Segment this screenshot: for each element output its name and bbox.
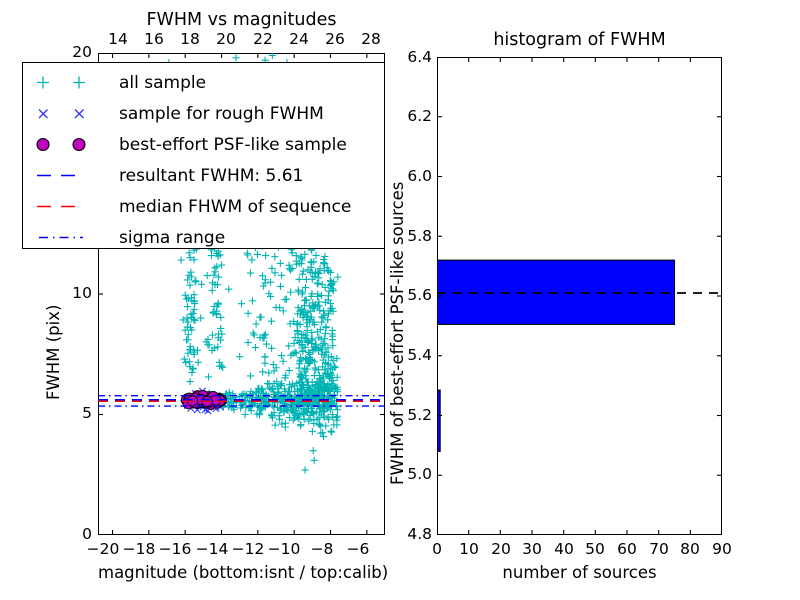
legend-label-sigma-range: sigma range (119, 228, 225, 248)
top-tick-18: 18 (176, 30, 204, 48)
legend: all sample sample for rough FWHM (22, 62, 385, 249)
hist-xtick-20: 20 (487, 540, 515, 558)
dashed-line-icon-red (23, 191, 119, 222)
bottom-tick-m6: −6 (339, 540, 377, 558)
hist-xtick-60: 60 (613, 540, 641, 558)
left-tick-5: 5 (66, 404, 92, 422)
hist-xtick-30: 30 (518, 540, 546, 558)
right-panel-xlabel: number of sources (437, 563, 722, 582)
hist-plot-canvas (437, 57, 722, 535)
legend-label-psf-sample: best-effort PSF-like sample (119, 135, 347, 155)
hist-tick-6_4: 6.4 (390, 48, 432, 66)
bottom-tick-m12: −12 (229, 540, 267, 558)
legend-item-resultant-fwhm: resultant FWHM: 5.61 (23, 160, 384, 191)
hist-tick-6_2: 6.2 (390, 107, 432, 125)
bottom-tick-m8: −8 (303, 540, 341, 558)
legend-item-median-fwhm: median FHWM of sequence (23, 191, 384, 222)
legend-label-median-fwhm: median FHWM of sequence (119, 197, 351, 217)
left-tick-20: 20 (66, 43, 92, 61)
legend-item-rough-sample: sample for rough FWHM (23, 98, 384, 129)
left-panel-ylabel: FWHM (pix) (44, 305, 63, 400)
left-tick-0: 0 (66, 525, 92, 543)
hist-xtick-40: 40 (550, 540, 578, 558)
top-tick-22: 22 (249, 30, 277, 48)
legend-label-rough-sample: sample for rough FWHM (119, 104, 324, 124)
cross-icon (23, 98, 119, 129)
hist-xtick-50: 50 (581, 540, 609, 558)
dashdot-line-icon (23, 222, 119, 253)
hist-xtick-90: 90 (708, 540, 736, 558)
left-panel-xlabel: magnitude (bottom:isnt / top:calib) (98, 563, 385, 582)
hist-xtick-0: 0 (423, 540, 451, 558)
legend-label-resultant-fwhm: resultant FWHM: 5.61 (119, 166, 303, 186)
histogram-bars (437, 260, 675, 451)
right-panel-title: histogram of FWHM (437, 30, 722, 50)
top-tick-28: 28 (357, 30, 385, 48)
matplotlib-figure: FWHM vs magnitudes 14 16 18 20 22 24 26 … (0, 0, 800, 600)
legend-item-sigma-range: sigma range (23, 222, 384, 253)
legend-item-all-sample: all sample (23, 67, 384, 98)
legend-item-psf-sample: best-effort PSF-like sample (23, 129, 384, 160)
circle-icon (23, 129, 119, 160)
hist-xtick-10: 10 (455, 540, 483, 558)
dashed-line-icon-blue (23, 160, 119, 191)
top-tick-16: 16 (140, 30, 168, 48)
plus-icon (23, 67, 119, 98)
right-panel-ylabel: FWHM of best-effort PSF-like sources (388, 182, 407, 485)
left-tick-10: 10 (66, 284, 92, 302)
bottom-tick-m14: −14 (193, 540, 231, 558)
left-panel-title: FWHM vs magnitudes (98, 10, 385, 30)
hist-xtick-70: 70 (645, 540, 673, 558)
top-tick-26: 26 (321, 30, 349, 48)
bottom-tick-m18: −18 (120, 540, 158, 558)
histogram-bar (437, 390, 440, 451)
top-tick-14: 14 (104, 30, 132, 48)
hist-xtick-80: 80 (676, 540, 704, 558)
legend-label-all-sample: all sample (119, 73, 206, 93)
bottom-tick-m16: −16 (156, 540, 194, 558)
top-tick-20: 20 (212, 30, 240, 48)
top-tick-24: 24 (285, 30, 313, 48)
bottom-tick-m10: −10 (265, 540, 303, 558)
